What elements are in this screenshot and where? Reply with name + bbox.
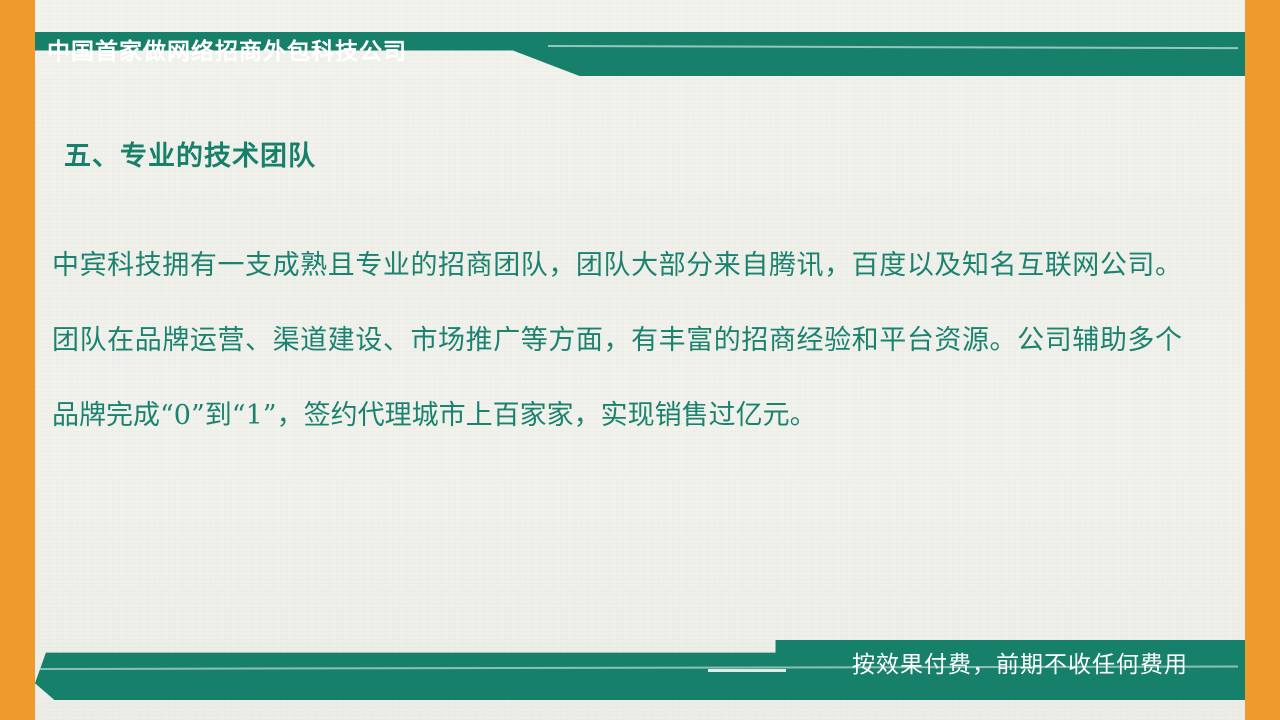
footer-tagline: 按效果付费，前期不收任何费用 xyxy=(852,645,1188,685)
body-paragraph: 中宾科技拥有一支成熟且专业的招商团队，团队大部分来自腾讯，百度以及知名互联网公司… xyxy=(52,228,1182,453)
body-paragraph-block: 中宾科技拥有一支成熟且专业的招商团队，团队大部分来自腾讯，百度以及知名互联网公司… xyxy=(52,228,1182,453)
section-heading: 五、专业的技术团队 xyxy=(64,134,316,173)
slide-border-left xyxy=(0,0,35,720)
presentation-slide: 中国首家做网络招商外包科技公司 五、专业的技术团队 中宾科技拥有一支成熟且专业的… xyxy=(0,0,1280,720)
slide-border-right xyxy=(1245,0,1280,720)
header-title: 中国首家做网络招商外包科技公司 xyxy=(47,33,407,71)
footer-accent-dash xyxy=(708,669,786,672)
